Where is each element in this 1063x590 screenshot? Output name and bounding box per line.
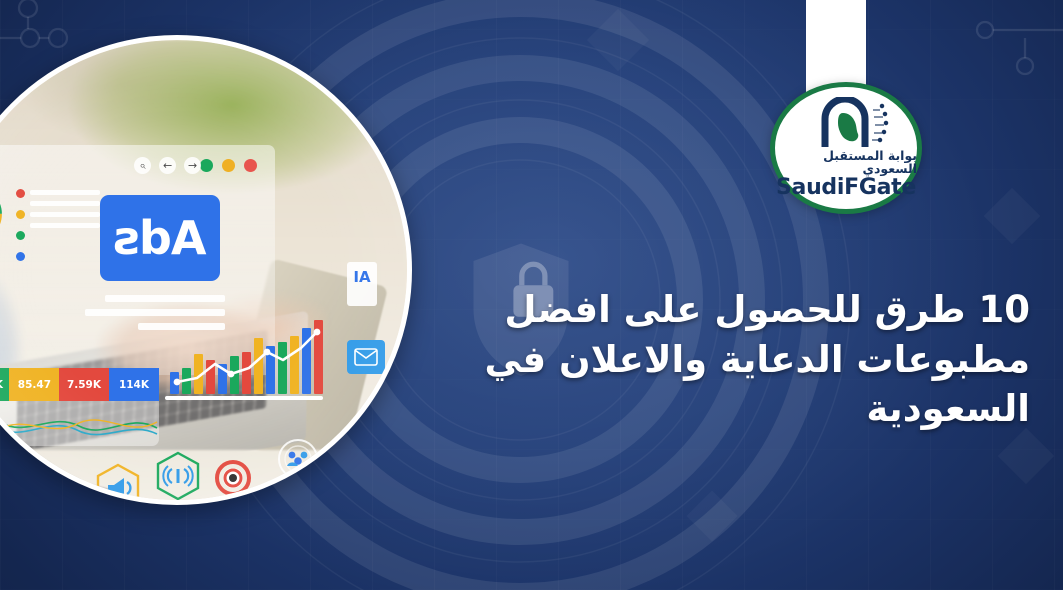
page-title: 10 طرق للحصول على افضل مطبوعات الدعاية و… <box>455 285 1030 434</box>
mock-side-lines <box>30 190 100 234</box>
legend-dot <box>16 189 25 198</box>
trend-line <box>163 316 323 404</box>
ai-card: AI <box>347 262 377 306</box>
location-pin-icon <box>37 473 83 500</box>
kpi-value: 114K <box>119 379 149 391</box>
saudifgate-logo-badge[interactable]: بوابة المستقبل السعودي SaudiFGate <box>770 82 922 214</box>
mock-line <box>85 309 225 316</box>
banner-canvas: ← → ⌕ Ads <box>0 0 1063 590</box>
people-group-icon <box>277 438 319 480</box>
donut-legend <box>16 189 25 273</box>
envelope-icon <box>354 348 378 366</box>
kpi-tile: 7.59K <box>59 368 109 401</box>
kpi-tiles-row: 114K 7.59K 85.47 9470K <box>0 368 159 401</box>
mock-line <box>105 295 225 302</box>
sparkline-waves <box>0 404 159 446</box>
ai-label: AI <box>353 268 370 286</box>
bullseye-target-icon <box>215 460 251 496</box>
megaphone-icon <box>95 463 141 500</box>
hero-photo-inner: ← → ⌕ Ads <box>0 40 407 500</box>
bar-chart-baseline <box>165 396 323 400</box>
gate-arch-logo-icon <box>803 97 889 149</box>
mock-line <box>30 190 100 195</box>
hero-photo-circle: ← → ⌕ Ads <box>0 35 412 505</box>
browser-traffic-lights <box>200 159 257 172</box>
legend-dot <box>16 210 25 219</box>
legend-dot <box>16 252 25 261</box>
kpi-card: 114K 7.59K 85.47 9470K <box>0 368 159 446</box>
mock-line <box>30 201 100 206</box>
bar-chart <box>163 316 323 404</box>
search-icon: ⌕ <box>134 157 151 174</box>
kpi-tile: 114K <box>109 368 159 401</box>
logo-english-name: SaudiFGate <box>776 177 916 199</box>
logo-arabic-name: بوابة المستقبل السعودي <box>775 150 917 175</box>
kpi-tile: 85.47 <box>9 368 59 401</box>
broadcast-icon <box>155 451 201 500</box>
ads-logo-box: Ads <box>100 195 220 281</box>
mail-card <box>347 340 385 374</box>
mock-line <box>30 212 100 217</box>
kpi-value: 7.59K <box>67 379 101 391</box>
legend-dot <box>16 231 25 240</box>
back-arrow-icon: ← <box>184 157 201 174</box>
kpi-value: 9470K <box>0 379 3 391</box>
mock-line <box>30 223 100 228</box>
maximize-dot-icon <box>200 159 213 172</box>
kpi-value: 85.47 <box>17 379 50 391</box>
kpi-tile: 9470K <box>0 368 9 401</box>
cloud-icon <box>0 485 21 500</box>
close-dot-icon <box>244 159 257 172</box>
minimize-dot-icon <box>222 159 235 172</box>
forward-arrow-icon: → <box>159 157 176 174</box>
donut-chart <box>0 183 5 245</box>
browser-nav-buttons: ← → ⌕ <box>134 157 201 174</box>
